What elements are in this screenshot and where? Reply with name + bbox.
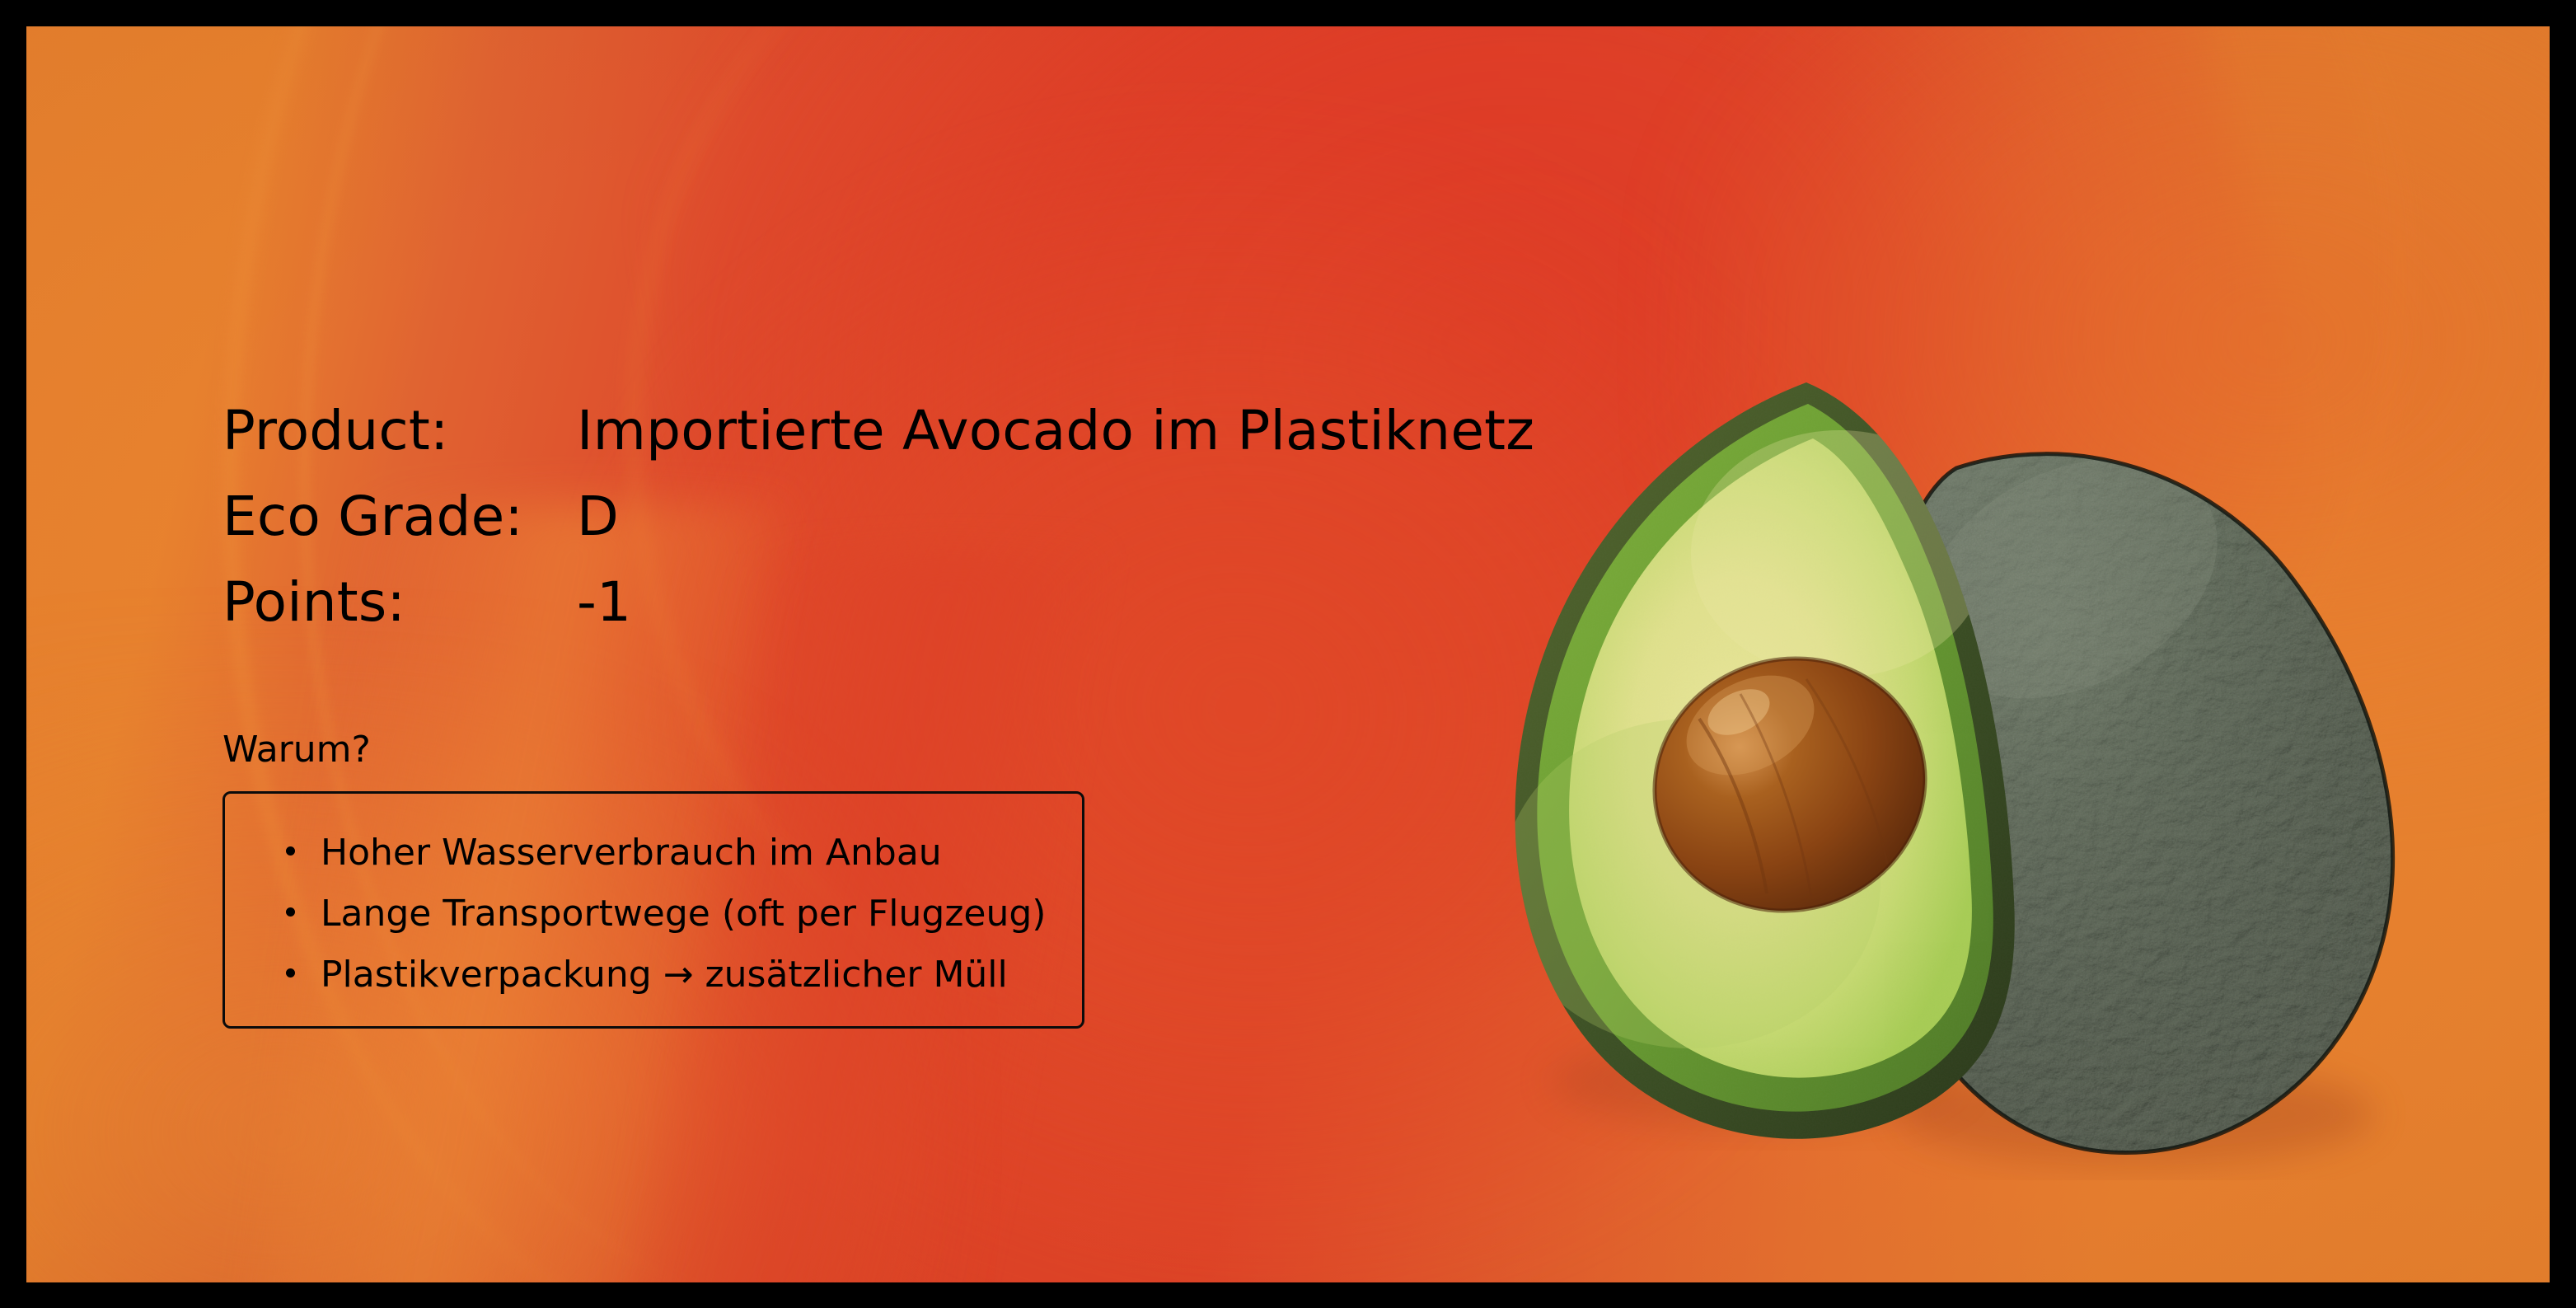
value-product: Importierte Avocado im Plastiknetz bbox=[577, 399, 1534, 462]
label-eco-grade: Eco Grade: bbox=[222, 485, 577, 548]
label-points: Points: bbox=[222, 570, 577, 634]
reason-text: Plastikverpackung → zusätzlicher Müll bbox=[321, 954, 1008, 996]
info-row-product: Product:Importierte Avocado im Plastikne… bbox=[222, 399, 1534, 462]
bullet-dot-icon bbox=[286, 968, 295, 977]
slide-canvas: Product:Importierte Avocado im Plastikne… bbox=[26, 26, 2550, 1282]
bullet-dot-icon bbox=[286, 907, 295, 917]
list-item: Plastikverpackung → zusätzlicher Müll bbox=[286, 954, 1008, 996]
info-row-points: Points:-1 bbox=[222, 570, 631, 634]
value-eco-grade: D bbox=[577, 485, 619, 548]
value-points: -1 bbox=[577, 570, 631, 634]
reasons-box: Hoher Wasserverbrauch im Anbau Lange Tra… bbox=[222, 791, 1084, 1029]
slide-content: Product:Importierte Avocado im Plastikne… bbox=[26, 26, 2550, 1282]
info-row-eco-grade: Eco Grade:D bbox=[222, 485, 619, 548]
reasons-list: Hoher Wasserverbrauch im Anbau Lange Tra… bbox=[225, 794, 1082, 1026]
bullet-dot-icon bbox=[286, 846, 295, 856]
reasons-heading: Warum? bbox=[222, 729, 371, 771]
list-item: Hoher Wasserverbrauch im Anbau bbox=[286, 832, 942, 874]
reason-text: Hoher Wasserverbrauch im Anbau bbox=[321, 832, 942, 874]
label-product: Product: bbox=[222, 399, 577, 462]
reason-text: Lange Transportwege (oft per Flugzeug) bbox=[321, 893, 1046, 935]
list-item: Lange Transportwege (oft per Flugzeug) bbox=[286, 893, 1046, 935]
